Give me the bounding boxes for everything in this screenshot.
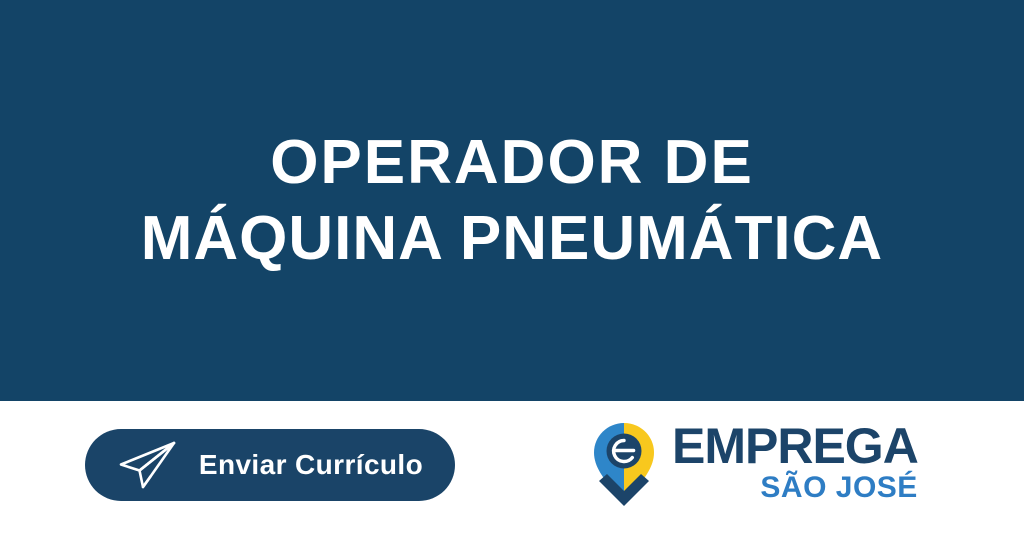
page-title-line-1: OPERADOR DE: [24, 131, 1000, 194]
page-title-line-2: MÁQUINA PNEUMÁTICA: [24, 207, 1000, 270]
map-pin-e-icon: [590, 421, 658, 513]
send-resume-label: Enviar Currículo: [199, 449, 423, 481]
send-resume-button[interactable]: Enviar Currículo: [85, 429, 455, 501]
brand-city: SÃO JOSÉ: [760, 472, 917, 504]
brand-logo[interactable]: EMPREGA SÃO JOSÉ: [590, 417, 918, 513]
job-vacancy-poster: OPERADOR DE MÁQUINA PNEUMÁTICA Enviar Cu…: [0, 0, 1024, 536]
page-title: OPERADOR DE MÁQUINA PNEUMÁTICA: [24, 131, 1000, 269]
hero-banner: OPERADOR DE MÁQUINA PNEUMÁTICA: [0, 0, 1024, 401]
brand-wordmark: EMPREGA SÃO JOSÉ: [672, 423, 918, 504]
paper-plane-icon: [117, 440, 179, 490]
brand-name: EMPREGA: [672, 423, 918, 470]
footer-bar: Enviar Currículo EMPREGA SÃO J: [0, 401, 1024, 536]
